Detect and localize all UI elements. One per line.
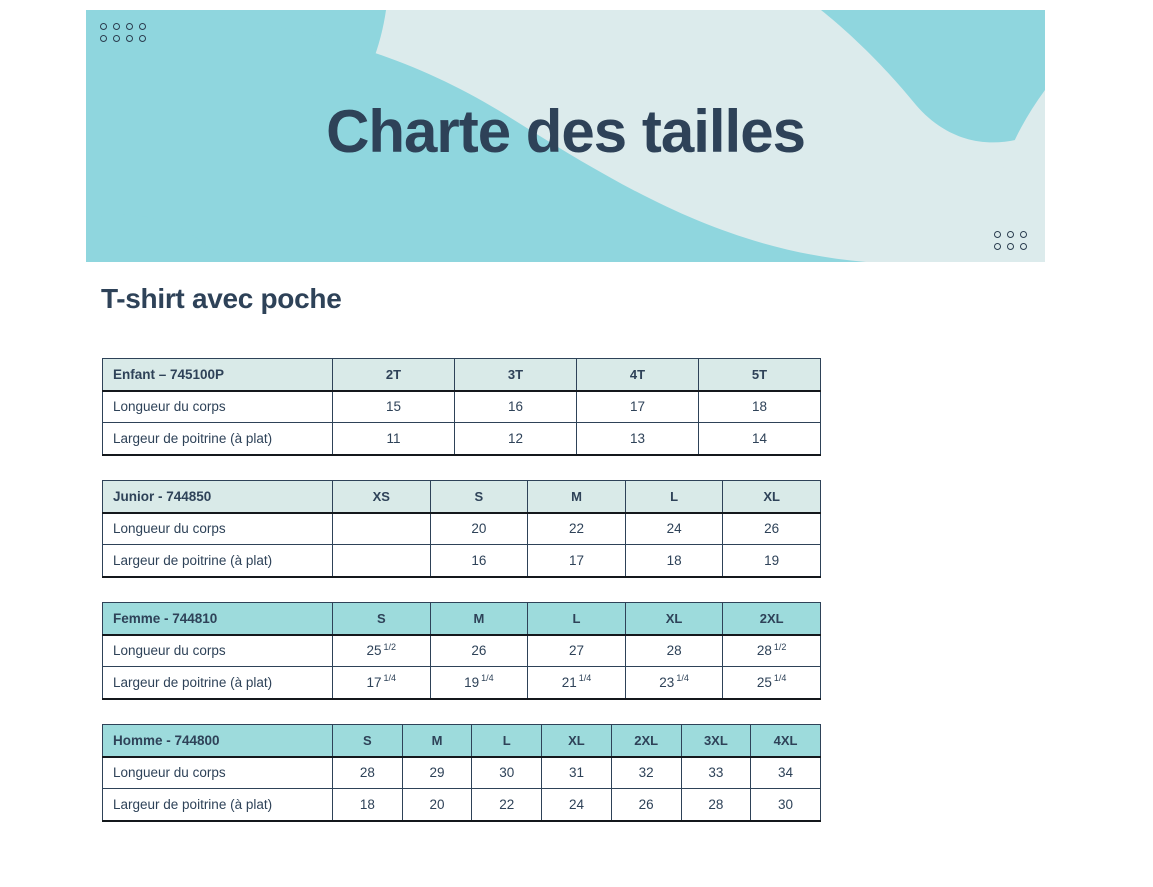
value-number: 17 — [367, 675, 382, 690]
table-title-homme: Homme - 744800 — [103, 725, 333, 757]
size-header-l: L — [528, 603, 626, 635]
measurement-value: 13 — [577, 423, 699, 455]
measurement-value: 27 — [528, 635, 626, 667]
measurement-value: 18 — [333, 789, 403, 821]
value-number: 32 — [639, 765, 654, 780]
value-number: 22 — [499, 797, 514, 812]
table-row: Longueur du corps251/2262728281/2 — [103, 635, 821, 667]
table-header-row: Junior - 744850XSSMLXL — [103, 481, 821, 513]
value-fraction: 1/2 — [774, 642, 787, 652]
value-number: 29 — [430, 765, 445, 780]
table-title-junior: Junior - 744850 — [103, 481, 333, 513]
value-number: 16 — [508, 399, 523, 414]
size-header-m: M — [402, 725, 472, 757]
measurement-value: 231/4 — [625, 667, 723, 699]
size-header-xl: XL — [723, 481, 821, 513]
measurement-value: 26 — [430, 635, 528, 667]
dot-icon — [113, 23, 120, 30]
dot-icon — [139, 23, 146, 30]
size-table-enfant: Enfant – 745100P2T3T4T5TLongueur du corp… — [102, 358, 821, 456]
value-number: 25 — [367, 643, 382, 658]
size-header-s: S — [430, 481, 528, 513]
value-number: 24 — [569, 797, 584, 812]
value-fraction: 1/4 — [676, 673, 689, 683]
value-number: 20 — [471, 521, 486, 536]
size-header-xl: XL — [542, 725, 612, 757]
table-row: Largeur de poitrine (à plat)182022242628… — [103, 789, 821, 821]
table-title-femme: Femme - 744810 — [103, 603, 333, 635]
value-number: 12 — [508, 431, 523, 446]
measurement-value: 19 — [723, 545, 821, 577]
measurement-value: 16 — [430, 545, 528, 577]
table-row: Largeur de poitrine (à plat)171/4191/421… — [103, 667, 821, 699]
value-number: 26 — [639, 797, 654, 812]
value-number: 21 — [562, 675, 577, 690]
dot-grid-icon — [994, 231, 1027, 250]
measurement-value: 34 — [751, 757, 821, 789]
value-number: 26 — [764, 521, 779, 536]
measurement-value: 18 — [625, 545, 723, 577]
measurement-value: 28 — [333, 757, 403, 789]
size-header-2xl: 2XL — [723, 603, 821, 635]
measurement-value — [333, 513, 431, 545]
size-header-l: L — [625, 481, 723, 513]
value-number: 30 — [499, 765, 514, 780]
banner-title: Charte des tailles — [86, 102, 1045, 162]
measurement-value: 30 — [751, 789, 821, 821]
value-number: 22 — [569, 521, 584, 536]
size-header-xl: XL — [625, 603, 723, 635]
value-number: 19 — [764, 553, 779, 568]
measurement-value: 12 — [455, 423, 577, 455]
dot-icon — [1020, 243, 1027, 250]
size-header-xs: XS — [333, 481, 431, 513]
dot-icon — [100, 23, 107, 30]
dot-icon — [126, 23, 133, 30]
dot-icon — [126, 35, 133, 42]
value-number: 28 — [360, 765, 375, 780]
measurement-value: 32 — [611, 757, 681, 789]
measurement-label: Longueur du corps — [103, 635, 333, 667]
measurement-value: 171/4 — [333, 667, 431, 699]
measurement-label: Largeur de poitrine (à plat) — [103, 545, 333, 577]
measurement-value: 191/4 — [430, 667, 528, 699]
size-header-m: M — [430, 603, 528, 635]
measurement-value: 26 — [723, 513, 821, 545]
measurement-value: 33 — [681, 757, 751, 789]
value-number: 18 — [752, 399, 767, 414]
table-row: Largeur de poitrine (à plat)11121314 — [103, 423, 821, 455]
dot-icon — [994, 231, 1001, 238]
size-header-s: S — [333, 725, 403, 757]
measurement-value: 14 — [699, 423, 821, 455]
measurement-value: 31 — [542, 757, 612, 789]
measurement-value: 30 — [472, 757, 542, 789]
value-number: 18 — [360, 797, 375, 812]
dot-icon — [113, 35, 120, 42]
value-number: 17 — [630, 399, 645, 414]
dot-icon — [1007, 231, 1014, 238]
value-number: 24 — [667, 521, 682, 536]
value-number: 28 — [757, 643, 772, 658]
measurement-value: 211/4 — [528, 667, 626, 699]
measurement-value — [333, 545, 431, 577]
value-fraction: 1/4 — [579, 673, 592, 683]
measurement-value: 15 — [333, 391, 455, 423]
measurement-value: 28 — [625, 635, 723, 667]
product-title: T-shirt avec poche — [101, 283, 341, 315]
value-number: 28 — [708, 797, 723, 812]
value-number: 16 — [471, 553, 486, 568]
value-number: 20 — [430, 797, 445, 812]
dot-icon — [1020, 231, 1027, 238]
measurement-value: 18 — [699, 391, 821, 423]
size-table-junior: Junior - 744850XSSMLXLLongueur du corps2… — [102, 480, 821, 578]
value-number: 27 — [569, 643, 584, 658]
size-header-4xl: 4XL — [751, 725, 821, 757]
measurement-value: 26 — [611, 789, 681, 821]
value-fraction: 1/4 — [481, 673, 494, 683]
value-number: 33 — [708, 765, 723, 780]
table-header-row: Femme - 744810SMLXL2XL — [103, 603, 821, 635]
measurement-value: 11 — [333, 423, 455, 455]
measurement-value: 24 — [625, 513, 723, 545]
measurement-value: 28 — [681, 789, 751, 821]
value-fraction: 1/4 — [384, 673, 397, 683]
measurement-value: 17 — [577, 391, 699, 423]
measurement-value: 22 — [472, 789, 542, 821]
value-number: 23 — [659, 675, 674, 690]
size-table-femme: Femme - 744810SMLXL2XLLongueur du corps2… — [102, 602, 821, 700]
value-number: 31 — [569, 765, 584, 780]
dot-icon — [139, 35, 146, 42]
table-row: Largeur de poitrine (à plat)16171819 — [103, 545, 821, 577]
value-number: 15 — [386, 399, 401, 414]
measurement-value: 281/2 — [723, 635, 821, 667]
value-number: 19 — [464, 675, 479, 690]
measurement-label: Largeur de poitrine (à plat) — [103, 789, 333, 821]
measurement-value: 251/2 — [333, 635, 431, 667]
measurement-label: Longueur du corps — [103, 391, 333, 423]
measurement-value: 251/4 — [723, 667, 821, 699]
value-fraction: 1/4 — [774, 673, 787, 683]
value-number: 13 — [630, 431, 645, 446]
size-header-m: M — [528, 481, 626, 513]
value-number: 26 — [471, 643, 486, 658]
value-number: 34 — [778, 765, 793, 780]
size-header-5t: 5T — [699, 359, 821, 391]
dot-grid-icon — [100, 23, 146, 42]
page-banner: Charte des tailles — [86, 10, 1045, 262]
table-header-row: Homme - 744800SMLXL2XL3XL4XL — [103, 725, 821, 757]
measurement-label: Largeur de poitrine (à plat) — [103, 667, 333, 699]
table-header-row: Enfant – 745100P2T3T4T5T — [103, 359, 821, 391]
size-header-l: L — [472, 725, 542, 757]
size-header-s: S — [333, 603, 431, 635]
dot-icon — [994, 243, 1001, 250]
value-number: 18 — [667, 553, 682, 568]
measurement-value: 29 — [402, 757, 472, 789]
measurement-label: Longueur du corps — [103, 757, 333, 789]
size-header-2xl: 2XL — [611, 725, 681, 757]
table-row: Longueur du corps20222426 — [103, 513, 821, 545]
measurement-value: 20 — [402, 789, 472, 821]
dot-icon — [100, 35, 107, 42]
value-number: 30 — [778, 797, 793, 812]
table-title-enfant: Enfant – 745100P — [103, 359, 333, 391]
value-fraction: 1/2 — [384, 642, 397, 652]
value-number: 28 — [667, 643, 682, 658]
value-number: 17 — [569, 553, 584, 568]
measurement-value: 16 — [455, 391, 577, 423]
measurement-label: Largeur de poitrine (à plat) — [103, 423, 333, 455]
table-row: Longueur du corps28293031323334 — [103, 757, 821, 789]
size-table-homme: Homme - 744800SMLXL2XL3XL4XLLongueur du … — [102, 724, 821, 822]
value-number: 11 — [386, 431, 400, 446]
value-number: 14 — [752, 431, 767, 446]
size-header-3xl: 3XL — [681, 725, 751, 757]
measurement-value: 17 — [528, 545, 626, 577]
measurement-value: 22 — [528, 513, 626, 545]
measurement-value: 24 — [542, 789, 612, 821]
value-number: 25 — [757, 675, 772, 690]
size-header-4t: 4T — [577, 359, 699, 391]
dot-icon — [1007, 243, 1014, 250]
size-header-3t: 3T — [455, 359, 577, 391]
table-row: Longueur du corps15161718 — [103, 391, 821, 423]
measurement-value: 20 — [430, 513, 528, 545]
size-header-2t: 2T — [333, 359, 455, 391]
measurement-label: Longueur du corps — [103, 513, 333, 545]
